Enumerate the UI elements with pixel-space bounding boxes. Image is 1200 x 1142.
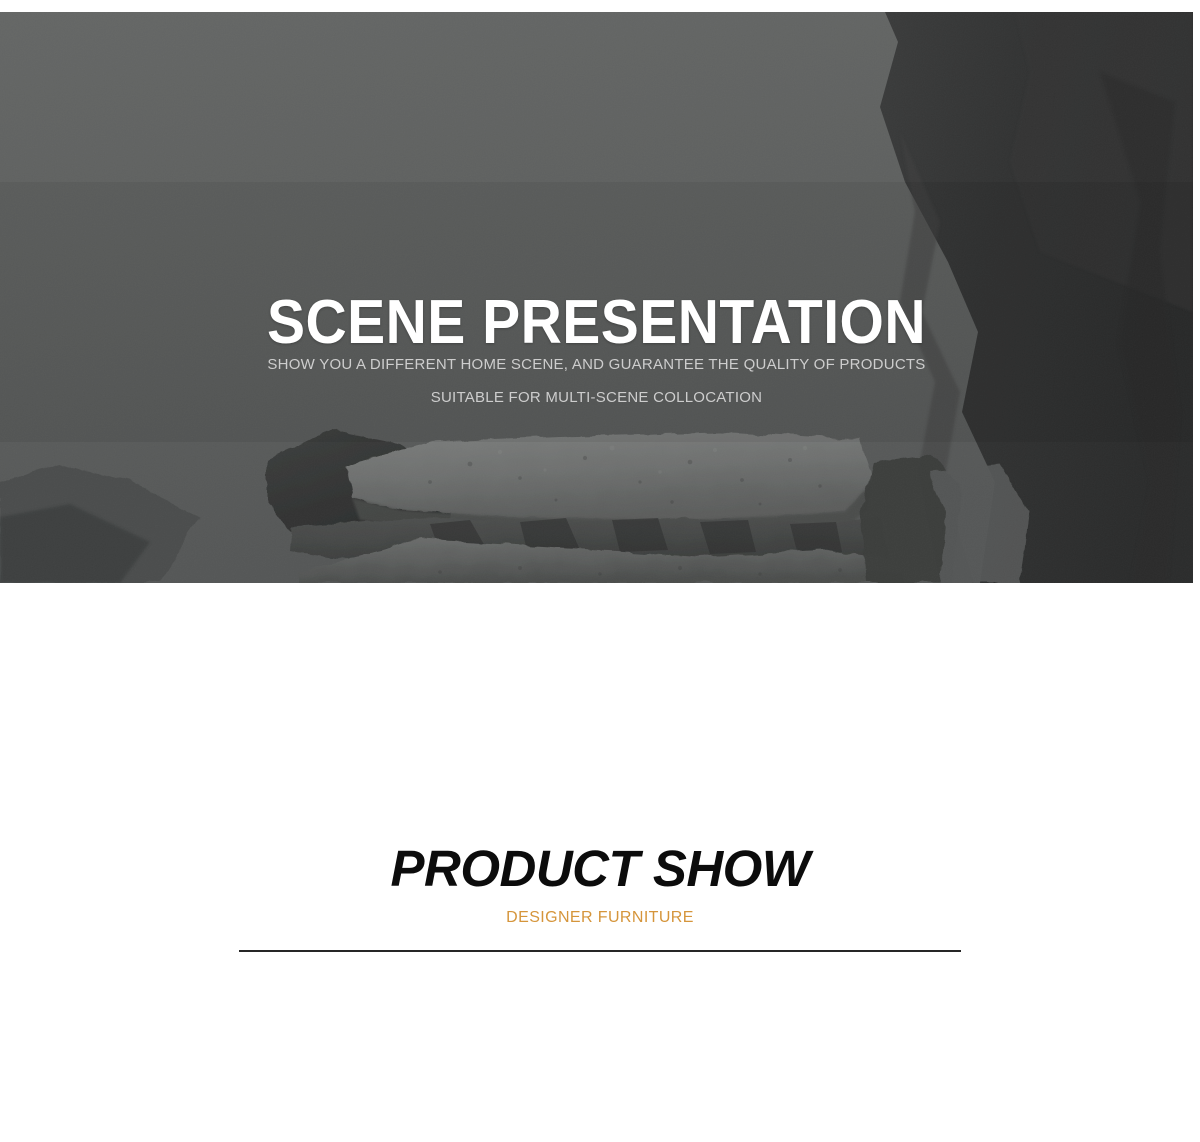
section-divider: [239, 950, 961, 952]
hero-title: SCENE PRESENTATION: [48, 292, 1146, 354]
hero-subtitle-line-1: SHOW YOU A DIFFERENT HOME SCENE, AND GUA…: [0, 348, 1193, 381]
hero-subtitle: SHOW YOU A DIFFERENT HOME SCENE, AND GUA…: [0, 348, 1193, 414]
hero-subtitle-line-2: SUITABLE FOR MULTI-SCENE COLLOCATION: [0, 381, 1193, 414]
product-show-title: PRODUCT SHOW: [0, 840, 1200, 898]
hero-banner: SCENE PRESENTATION SHOW YOU A DIFFERENT …: [0, 12, 1193, 583]
product-show-section: PRODUCT SHOW DESIGNER FURNITURE: [0, 840, 1200, 952]
product-show-subtitle: DESIGNER FURNITURE: [0, 907, 1200, 929]
